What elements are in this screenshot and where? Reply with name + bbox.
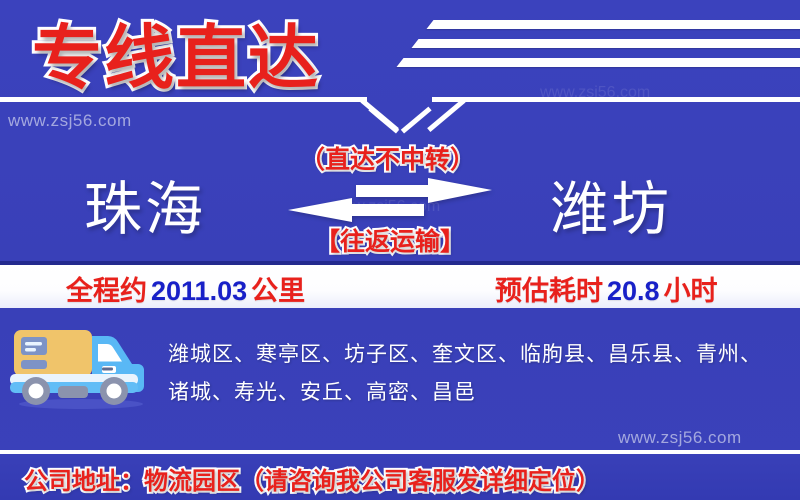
slant-bar-decoration xyxy=(411,39,800,48)
round-trip-badge: 【往返运输】 xyxy=(315,222,465,258)
distance-value: 2011.03 xyxy=(147,276,251,306)
delivery-truck-icon xyxy=(6,316,156,412)
chevron-down-icon xyxy=(368,107,399,134)
logistics-route-poster: 专线直达 www.zsj56.com www.zsj56.com www.zsj… xyxy=(0,0,800,500)
origin-city: 珠海 xyxy=(84,162,206,246)
duration-label: 预估耗时 xyxy=(495,276,603,306)
distance-stat: 全程约2011.03公里 xyxy=(66,269,305,308)
distance-label: 全程约 xyxy=(66,276,147,306)
duration-value: 20.8 xyxy=(603,276,664,306)
page-title: 专线直达 xyxy=(32,2,320,103)
chevron-down-icon xyxy=(401,107,432,134)
divider-line-left xyxy=(0,97,367,102)
duration-stat: 预估耗时20.8小时 xyxy=(495,269,718,308)
coverage-district-list: 潍城区、寒亭区、坊子区、奎文区、临朐县、昌乐县、青州、诸城、寿光、安丘、高密、昌… xyxy=(168,336,778,412)
bidirectional-arrow-icon xyxy=(288,178,492,224)
slant-bar-decoration xyxy=(396,58,800,67)
company-address-text: 公司地址：物流园区（请咨询我公司客服发详细定位） xyxy=(24,461,600,496)
direct-route-badge: （直达不中转） xyxy=(300,140,475,176)
duration-unit: 小时 xyxy=(664,276,718,306)
watermark-top: www.zsj56.com xyxy=(8,111,132,131)
slant-bar-decoration xyxy=(426,20,800,29)
watermark-bottom: www.zsj56.com xyxy=(618,428,742,448)
distance-unit: 公里 xyxy=(251,276,305,306)
destination-city: 潍坊 xyxy=(550,162,672,246)
chevron-down-icon xyxy=(427,99,465,132)
watermark-faint: www.zsj56.com xyxy=(540,84,650,102)
